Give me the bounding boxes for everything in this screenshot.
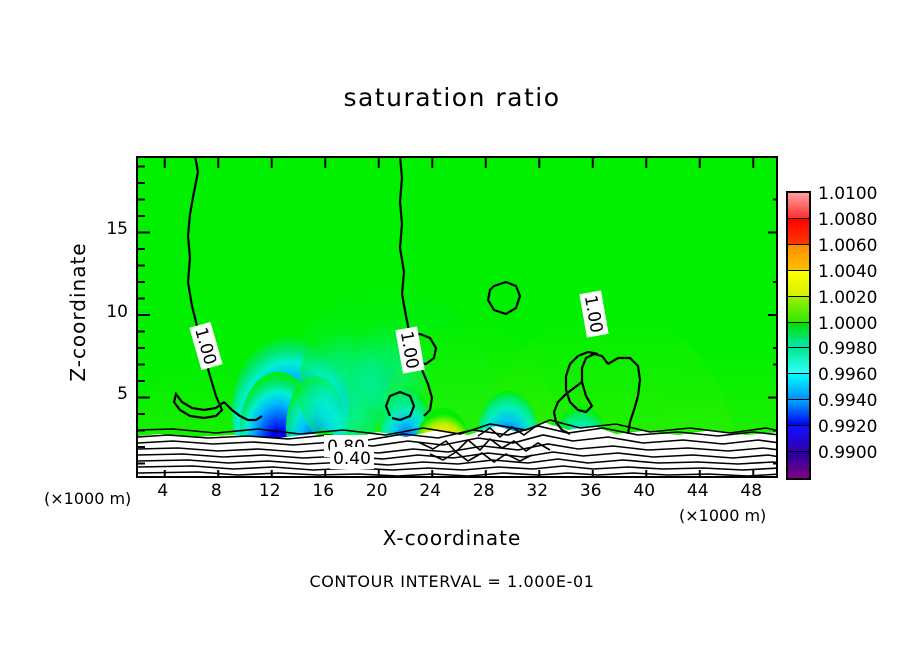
x-tick-label: 48 bbox=[731, 481, 771, 501]
x-tick-label: 36 bbox=[571, 481, 611, 501]
x-tick-label: 16 bbox=[303, 481, 343, 501]
x-axis-units: (×1000 m) bbox=[679, 506, 766, 525]
x-tick-label: 44 bbox=[678, 481, 718, 501]
colorbar-tick-label: 1.0020 bbox=[818, 288, 877, 308]
colorbar-tick-label: 0.9900 bbox=[818, 443, 877, 463]
y-axis-units: (×1000 m) bbox=[44, 489, 131, 508]
y-tick-label: 15 bbox=[96, 219, 128, 239]
colorbar-band bbox=[788, 374, 809, 400]
colorbar-band bbox=[788, 348, 809, 374]
colorbar-tick-label: 1.0000 bbox=[818, 314, 877, 334]
x-tick-label: 4 bbox=[143, 481, 183, 501]
colorbar bbox=[786, 191, 811, 480]
colorbar-band bbox=[788, 426, 809, 452]
colorbar-band bbox=[788, 271, 809, 297]
x-tick-label: 24 bbox=[410, 481, 450, 501]
page-title: saturation ratio bbox=[0, 83, 904, 112]
figure-canvas: saturation ratio Z-coordinate bbox=[0, 0, 904, 654]
scalar-field-heatmap: 1.00 1.00 1.00 0.80 0.40 bbox=[138, 158, 778, 478]
plot-area: 1.00 1.00 1.00 0.80 0.40 bbox=[136, 156, 778, 478]
colorbar-band bbox=[788, 193, 809, 219]
y-tick-label: 10 bbox=[96, 302, 128, 322]
contour-interval-caption: CONTOUR INTERVAL = 1.000E-01 bbox=[0, 572, 904, 591]
x-axis-title: X-coordinate bbox=[0, 526, 904, 550]
colorbar-tick-label: 0.9940 bbox=[818, 391, 877, 411]
x-tick-label: 12 bbox=[250, 481, 290, 501]
contour-label-5: 0.40 bbox=[333, 449, 371, 469]
y-axis-title: Z-coordinate bbox=[66, 212, 90, 412]
x-tick-label: 32 bbox=[517, 481, 557, 501]
x-tick-label: 40 bbox=[624, 481, 664, 501]
y-tick-label: 5 bbox=[96, 384, 128, 404]
colorbar-band bbox=[788, 400, 809, 426]
colorbar-tick-label: 0.9960 bbox=[818, 365, 877, 385]
colorbar-tick-label: 0.9980 bbox=[818, 339, 877, 359]
colorbar-tick-label: 1.0100 bbox=[818, 184, 877, 204]
x-tick-label: 28 bbox=[464, 481, 504, 501]
colorbar-band bbox=[788, 452, 809, 478]
colorbar-tick-label: 1.0080 bbox=[818, 210, 877, 230]
colorbar-band bbox=[788, 245, 809, 271]
colorbar-tick-label: 1.0060 bbox=[818, 236, 877, 256]
colorbar-tick-label: 1.0040 bbox=[818, 262, 877, 282]
colorbar-band bbox=[788, 323, 809, 349]
colorbar-tick-label: 0.9920 bbox=[818, 417, 877, 437]
x-tick-label: 8 bbox=[196, 481, 236, 501]
x-tick-label: 20 bbox=[357, 481, 397, 501]
colorbar-band bbox=[788, 219, 809, 245]
colorbar-band bbox=[788, 297, 809, 323]
